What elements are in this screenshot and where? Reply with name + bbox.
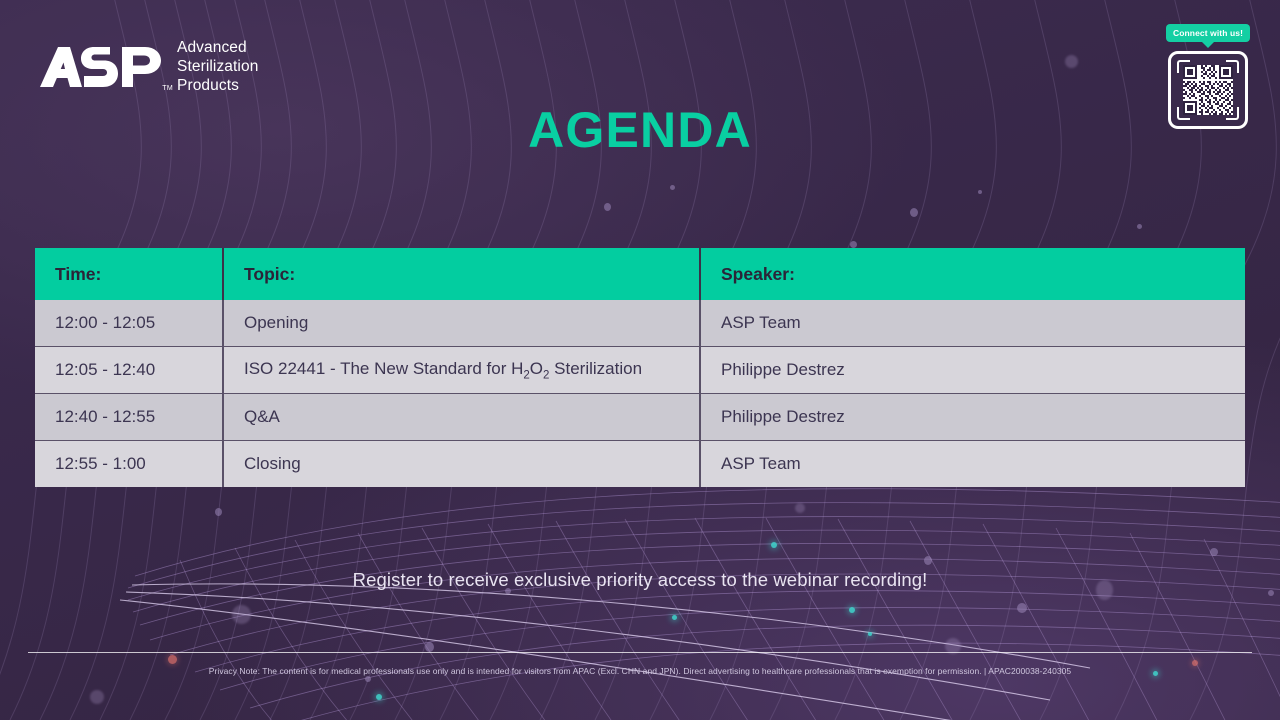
privacy-note: Privacy Note: The content is for medical… <box>0 666 1280 676</box>
qr-corner-icon <box>1177 60 1190 73</box>
cell-topic: ISO 22441 - The New Standard for H2O2 St… <box>223 347 700 394</box>
bokeh-dot <box>910 208 918 217</box>
cell-topic: Opening <box>223 300 700 347</box>
bokeh-dot <box>978 190 982 194</box>
bokeh-dot <box>672 615 677 620</box>
table-row: 12:00 - 12:05 Opening ASP Team <box>35 300 1245 347</box>
column-header-topic: Topic: <box>223 248 700 300</box>
bokeh-dot <box>604 203 611 211</box>
column-header-time: Time: <box>35 248 223 300</box>
bokeh-dot <box>924 556 932 565</box>
table-header-row: Time: Topic: Speaker: <box>35 248 1245 300</box>
asp-logo-mark: TM <box>36 41 164 93</box>
footer-divider <box>28 652 1252 653</box>
cell-speaker: ASP Team <box>700 300 1245 347</box>
cell-topic: Closing <box>223 441 700 488</box>
cell-speaker: ASP Team <box>700 441 1245 488</box>
bokeh-dot <box>1065 55 1078 68</box>
bokeh-dot <box>215 508 222 516</box>
bokeh-dot <box>850 241 857 248</box>
table-row: 12:55 - 1:00 Closing ASP Team <box>35 441 1245 488</box>
register-callout: Register to receive exclusive priority a… <box>0 569 1280 591</box>
column-header-speaker: Speaker: <box>700 248 1245 300</box>
table-row: 12:40 - 12:55 Q&A Philippe Destrez <box>35 394 1245 441</box>
topic-text: ISO 22441 - The New Standard for H <box>244 359 523 378</box>
cell-time: 12:00 - 12:05 <box>35 300 223 347</box>
cell-time: 12:55 - 1:00 <box>35 441 223 488</box>
asp-monogram-icon <box>36 41 164 93</box>
bokeh-dot <box>168 655 177 664</box>
agenda-slide: TM Advanced Sterilization Products AGEND… <box>0 0 1280 720</box>
qr-corner-icon <box>1226 107 1239 120</box>
cell-time: 12:40 - 12:55 <box>35 394 223 441</box>
agenda-table: Time: Topic: Speaker: 12:00 - 12:05 Open… <box>35 248 1245 487</box>
bokeh-dot <box>868 632 872 636</box>
asp-logo: TM Advanced Sterilization Products <box>36 38 258 95</box>
cell-topic: Q&A <box>223 394 700 441</box>
bokeh-dot <box>1210 548 1218 556</box>
bokeh-dot <box>849 607 855 613</box>
connect-qr-block[interactable]: Connect with us! <box>1168 24 1248 129</box>
bokeh-dot <box>1137 224 1142 229</box>
bokeh-dot <box>376 694 382 700</box>
qr-corner-icon <box>1226 60 1239 73</box>
cell-time: 12:05 - 12:40 <box>35 347 223 394</box>
trademark-symbol: TM <box>162 85 173 92</box>
topic-text-tail: Sterilization <box>549 359 642 378</box>
bokeh-dot <box>232 605 251 624</box>
bokeh-dot <box>795 503 805 513</box>
qr-corner-icon <box>1177 107 1190 120</box>
bokeh-dot <box>771 542 777 548</box>
topic-text-mid: O <box>530 359 543 378</box>
bokeh-dot <box>945 638 961 654</box>
bokeh-dot <box>365 676 371 682</box>
bokeh-dot <box>670 185 675 190</box>
bokeh-dot <box>1017 603 1027 613</box>
page-title: AGENDA <box>0 101 1280 159</box>
qr-frame[interactable] <box>1168 51 1248 129</box>
asp-logo-name: Advanced Sterilization Products <box>177 38 258 95</box>
table-row: 12:05 - 12:40 ISO 22441 - The New Standa… <box>35 347 1245 394</box>
bokeh-dot <box>425 642 434 652</box>
bokeh-dot <box>90 690 104 704</box>
cell-speaker: Philippe Destrez <box>700 347 1245 394</box>
connect-with-us-tooltip: Connect with us! <box>1166 24 1250 42</box>
cell-speaker: Philippe Destrez <box>700 394 1245 441</box>
